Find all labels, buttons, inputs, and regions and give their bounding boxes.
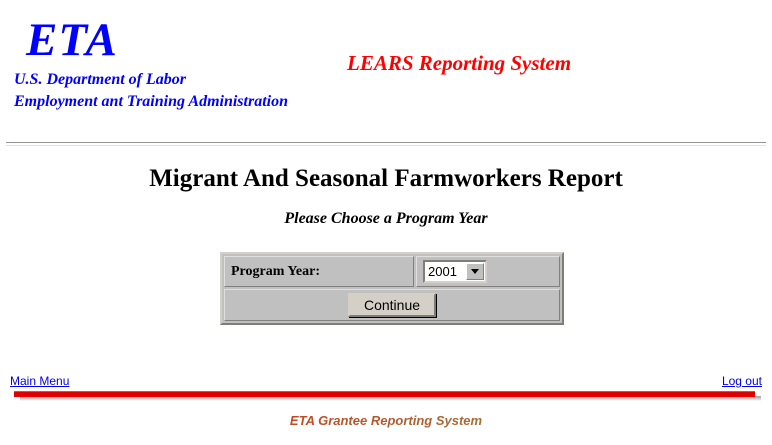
main-menu-link[interactable]: Main Menu (10, 374, 69, 388)
program-year-field-cell: 2001 (416, 256, 560, 287)
program-year-selected-value: 2001 (425, 262, 466, 281)
table-row: Program Year: 2001 (224, 256, 560, 287)
header-divider (6, 142, 766, 146)
continue-button[interactable]: Continue (348, 293, 436, 317)
program-year-table: Program Year: 2001 Continue (222, 254, 562, 323)
footer-tagline: ETA Grantee Reporting System (0, 413, 772, 429)
agency-name-line-1: U.S. Department of Labor (14, 70, 186, 89)
page-header: ETA U.S. Department of Labor Employment … (0, 0, 772, 137)
form-actions-cell: Continue (224, 289, 560, 321)
agency-name-line-2: Employment ant Training Administration (14, 92, 288, 111)
footer-divider-bar (14, 391, 755, 397)
chevron-down-icon[interactable] (466, 263, 484, 280)
program-year-select[interactable]: 2001 (423, 260, 487, 283)
program-year-label: Program Year: (224, 256, 414, 287)
eta-logo: ETA (26, 16, 118, 64)
program-year-form: Program Year: 2001 Continue (220, 252, 564, 325)
table-row: Continue (224, 289, 560, 321)
log-out-link[interactable]: Log out (722, 374, 762, 388)
page-title: Migrant And Seasonal Farmworkers Report (0, 164, 772, 194)
system-title: LEARS Reporting System (347, 51, 571, 75)
page-subtitle: Please Choose a Program Year (0, 209, 772, 228)
